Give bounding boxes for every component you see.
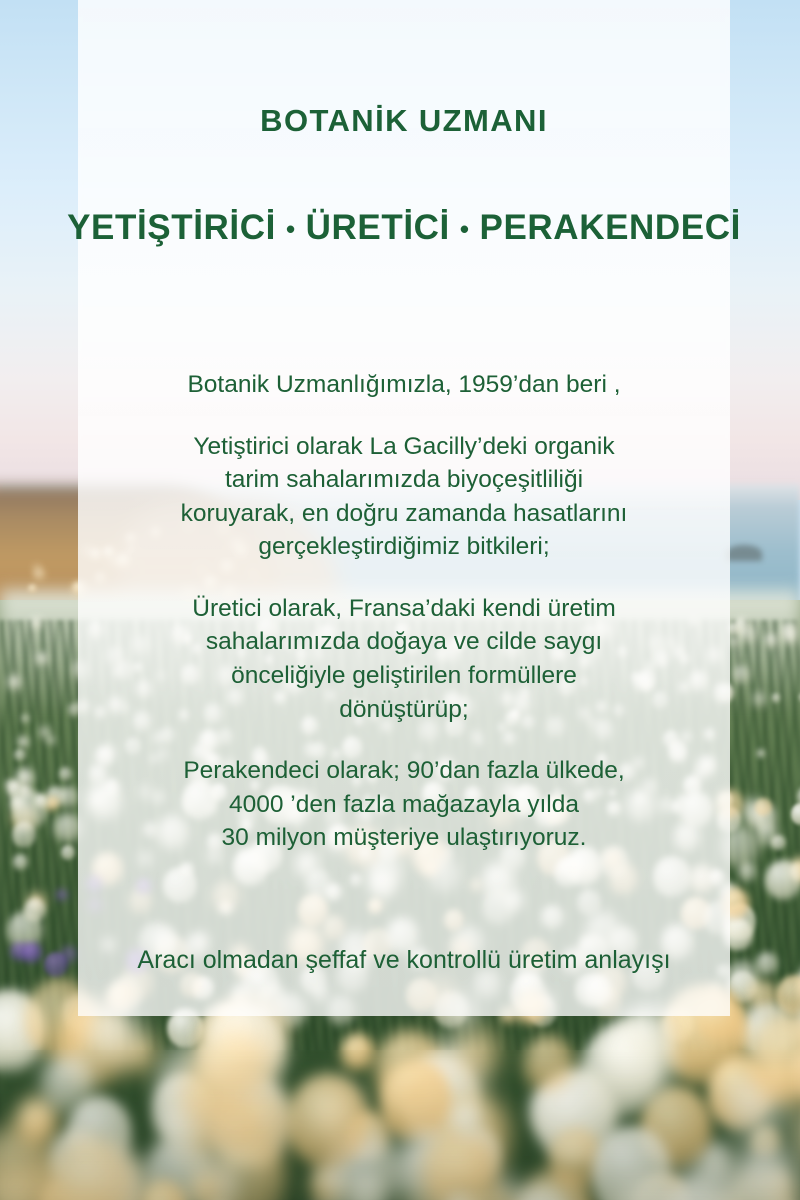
retailer-line-3: 30 milyon müşteriye ulaştırıyoruz.: [222, 824, 587, 851]
producer-line-1: Üretici olarak, Fransa’daki kendi üretim: [192, 595, 615, 622]
retailer-line-2: 4000 ’den fazla mağazayla yılda: [229, 791, 579, 818]
producer-line-4: dönüştürüp;: [339, 696, 468, 723]
poster-root: BOTANİK UZMANI YETİŞTİRİCİ•ÜRETİCİ•PERAK…: [0, 0, 800, 1200]
foreground-blur: [0, 1050, 800, 1200]
subtitle-roles: YETİŞTİRİCİ•ÜRETİCİ•PERAKENDECİ: [43, 209, 765, 248]
content-text: BOTANİK UZMANI YETİŞTİRİCİ•ÜRETİCİ•PERAK…: [78, 0, 730, 1016]
grower-line-1: Yetiştirici olarak La Gacilly’deki organ…: [193, 433, 614, 460]
producer-line-3: önceliğiyle geliştirilen formüllere: [231, 662, 577, 689]
retailer-line-1: Perakendeci olarak; 90’dan fazla ülkede,: [183, 757, 624, 784]
producer-line-2: sahalarımızda doğaya ve cilde saygı: [206, 628, 602, 655]
retailer-paragraph: Perakendeci olarak; 90’dan fazla ülkede,…: [118, 754, 690, 855]
tagline: Aracı olmadan şeffaf ve kontrollü üretim…: [78, 944, 730, 977]
page-title: BOTANİK UZMANI: [78, 104, 730, 138]
grower-paragraph: Yetiştirici olarak La Gacilly’deki organ…: [118, 430, 690, 564]
grower-line-4: gerçekleştirdiğimiz bitkileri;: [258, 533, 549, 560]
producer-paragraph: Üretici olarak, Fransa’daki kendi üretim…: [118, 592, 690, 726]
intro-paragraph: Botanik Uzmanlığımızla, 1959’dan beri ,: [118, 368, 690, 402]
bullet-separator-icon: •: [276, 215, 306, 244]
grower-line-3: koruyarak, en doğru zamanda hasatlarını: [181, 500, 628, 527]
subtitle-part-producer: ÜRETİCİ: [306, 208, 450, 247]
subtitle-part-retailer: PERAKENDECİ: [480, 208, 741, 247]
body-copy: Botanik Uzmanlığımızla, 1959’dan beri , …: [118, 368, 690, 855]
bullet-separator-icon-2: •: [450, 215, 480, 244]
subtitle-part-grower: YETİŞTİRİCİ: [67, 208, 276, 247]
grower-line-2: tarim sahalarımızda biyoçeşitliliği: [225, 466, 583, 493]
intro-line: Botanik Uzmanlığımızla, 1959’dan beri ,: [187, 371, 620, 398]
